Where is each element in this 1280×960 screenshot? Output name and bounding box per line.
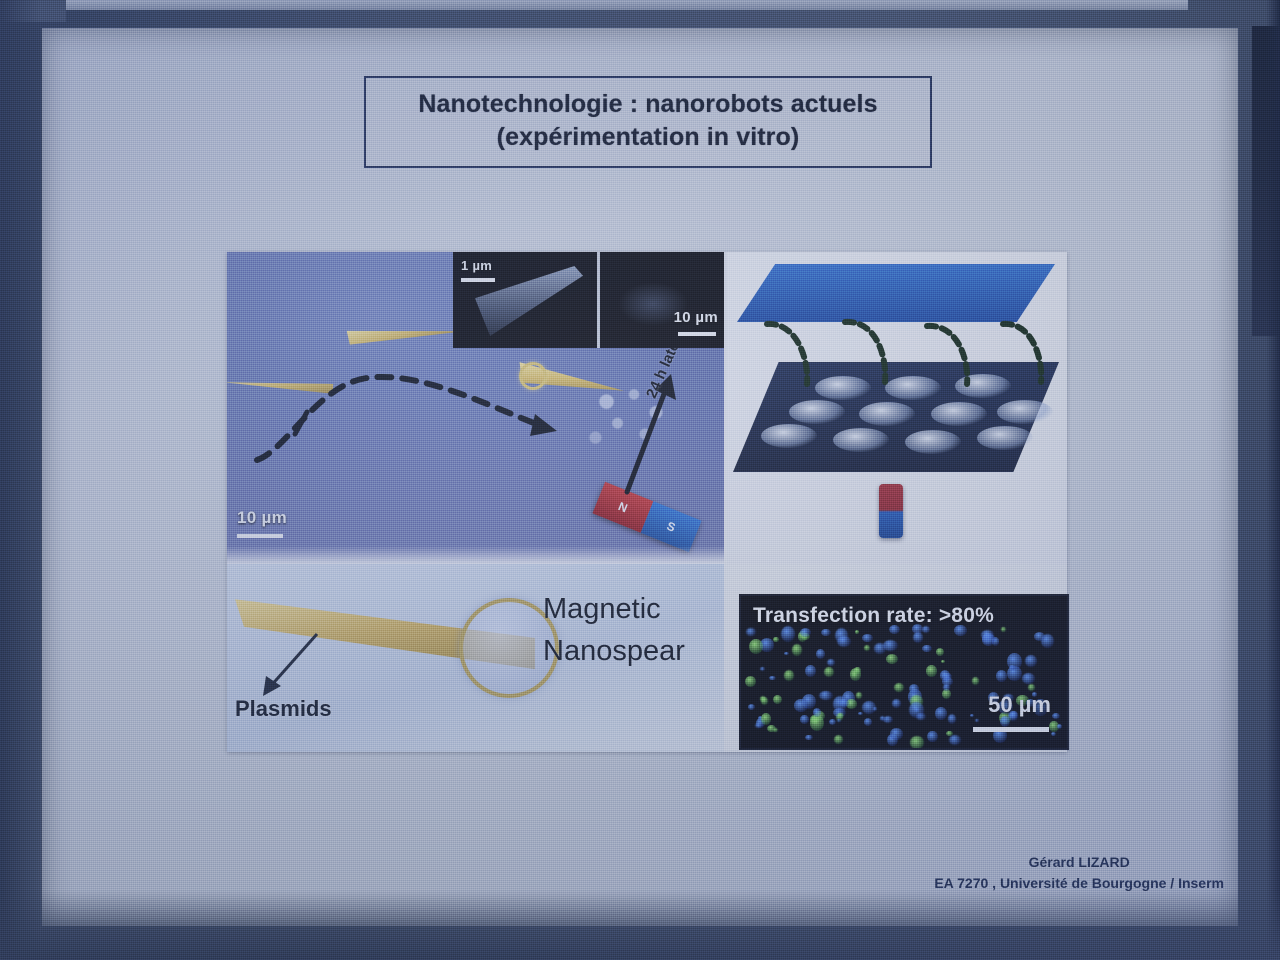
nanospear-trajectory-arcs [727,312,1067,392]
fluorescent-cell-dot [805,735,813,741]
bezel-left-shadow [0,0,40,960]
schematic-illustration-panel [727,252,1067,564]
fluorescent-cell-dot [1057,724,1062,729]
presentation-slide: Nanotechnologie : nanorobots actuels (ex… [42,28,1238,926]
fluorescent-cell-dot [910,736,924,749]
fluorescent-cell-dot [972,677,979,685]
fluorescent-cell-dot [749,639,763,654]
page-title-line-2: (expérimentation in vitro) [378,121,918,154]
fluorescent-cell-dot [746,628,756,637]
figure-caption: Magnetic Nanospear [543,588,723,672]
fluorescent-cell-dot [810,715,824,731]
fluorescent-cell-dot [816,649,825,659]
fluorescent-cell-dot [940,670,950,680]
fluorescent-cell-dot [800,628,811,637]
fluorescent-cell-dot [909,702,924,717]
fluorescent-cell-dot [927,731,938,743]
fluorescent-cell-dot [1051,732,1056,736]
fluorescent-cell-dot [819,691,833,701]
fluorescent-cell-dot [909,684,919,694]
plasmids-pointer-icon [255,630,325,700]
fluorescent-cell-dot [1034,632,1045,641]
fluorescent-cell-dot [922,645,931,652]
fluorescent-cell-dot [1007,653,1022,670]
fluorescent-cell-dot [769,676,776,681]
footer-author: Gérard LIZARD [934,852,1224,873]
fluorescent-cell-dot [892,699,901,707]
bezel-bottom-shadow [0,890,1280,960]
caption-line-2: Nanospear [543,630,723,672]
trajectory-arrow-icon [247,330,577,470]
cell-shape [931,402,987,426]
figure-composite: 10 µm N S 24 h later [227,252,1067,752]
scale-bar [973,727,1049,732]
fluorescent-cell-dot [864,718,873,726]
fluorescent-cell-dot [873,707,878,711]
fluorescent-cell-dot [760,667,765,671]
fluorescent-cell-dot [864,645,870,651]
fluorescent-cell-dot [1025,655,1037,667]
scale-label: 1 µm [461,258,492,273]
fluorescent-cell-dot [858,712,862,715]
fluorescent-cell-dot [829,719,836,725]
fluorescent-cell-dot [943,684,950,691]
fluorescent-cell-dot [894,683,904,692]
fluorescent-cell-dot [761,697,769,705]
bezel-right-shadow [1266,0,1280,960]
fluorescent-cell-dot [862,634,874,643]
fluorescent-cell-dot [981,630,995,640]
fluorescent-cell-dot [890,728,902,740]
fluorescent-cell-dot [792,644,802,656]
fluorescent-cell-dot [935,707,947,719]
fluorescent-cell-dot [784,652,788,655]
fluorescent-cell-dot [996,670,1007,682]
fluorescent-cell-dot [761,713,771,725]
fluorescent-cell-dot [821,629,830,636]
slide-title-box: Nanotechnologie : nanorobots actuels (ex… [364,76,932,168]
nanospear-sem-shape [475,266,583,336]
fluorescent-cell-dot [949,735,961,745]
fluorescent-cell-dot [970,714,974,717]
page-title-line-1: Nanotechnologie : nanorobots actuels [378,88,918,121]
fluorescent-cell-dot [855,630,859,634]
magnet-south-pole: S [641,501,702,552]
fluorescent-cell-dot [794,699,807,712]
fluorescent-cell-dot [837,636,851,647]
fluorescent-cell-dot [941,660,945,664]
fluorescent-cell-dot [886,654,898,664]
fluorescent-cell-dot [784,670,794,681]
fluorescent-cell-dot [773,695,782,704]
fluorescent-cell-dot [837,713,844,718]
time-annotation: 24 h later [619,370,689,496]
slide-footer: Gérard LIZARD EA 7270 , Université de Bo… [934,852,1224,894]
fluorescent-cell-dot [837,719,841,722]
scale-bar [678,332,716,336]
cell-shape [859,402,915,426]
microscopy-panel: 10 µm N S 24 h later [227,252,724,564]
fluorescent-cell-dot [773,637,779,641]
scale-label: 10 µm [237,508,287,528]
caption-line-1: Magnetic [543,588,723,630]
fluorescent-cell-dot [1052,713,1060,719]
fluorescent-cell-dot [913,632,923,643]
photo-of-projected-slide: Nanotechnologie : nanorobots actuels (ex… [0,0,1280,960]
cell-shape [905,430,961,454]
fluorescent-cell-dot [883,640,898,651]
sem-inset-panel-b: 10 µm [600,252,724,348]
fluorescent-cell-dot [975,719,979,722]
fluorescent-cell-dot [745,676,756,687]
transfection-panel: Transfection rate: >80% 50 µm [741,596,1067,748]
cell-shape [761,424,817,448]
fluorescent-cell-dot [781,626,796,643]
fluorescent-cell-dot [926,665,937,677]
fluorescent-cell-dot [856,692,863,699]
fluorescent-cell-dot [767,725,776,732]
fluorescent-cell-dot [839,699,849,707]
fluorescent-cell-dot [813,708,821,716]
scale-bar [237,534,283,538]
fluorescent-cell-dot [880,716,885,721]
cell-shape [789,400,845,424]
fluorescent-cell-dot [1028,684,1035,692]
background-window-strip [58,0,1188,10]
fluorescent-cell-dot [1001,627,1005,632]
cell-shape [997,400,1053,424]
fluorescent-cell-dot [948,714,956,724]
fluorescent-cell-dot [834,735,843,744]
scale-label: 10 µm [674,309,718,326]
fluorescent-cell-dot [805,665,816,677]
fluorescent-cell-dot [748,704,755,710]
plasmids-label: Plasmids [235,696,332,722]
cell-shape [977,426,1033,450]
fluorescent-cell-dot [824,667,834,677]
scale-label: 50 µm [988,692,1051,718]
cell-shape [833,428,889,452]
sem-inset-panel-a: 1 µm [453,252,600,348]
fluorescent-cell-dot [1022,673,1036,684]
fluorescent-cell-dot [852,673,856,677]
fluorescent-cell-dot [800,715,808,723]
fluorescent-cell-dot [827,659,836,666]
scale-bar [461,278,495,282]
cylindrical-magnet [879,484,903,538]
transfection-rate-label: Transfection rate: >80% [753,604,994,628]
fluorescent-cell-dot [936,648,944,656]
